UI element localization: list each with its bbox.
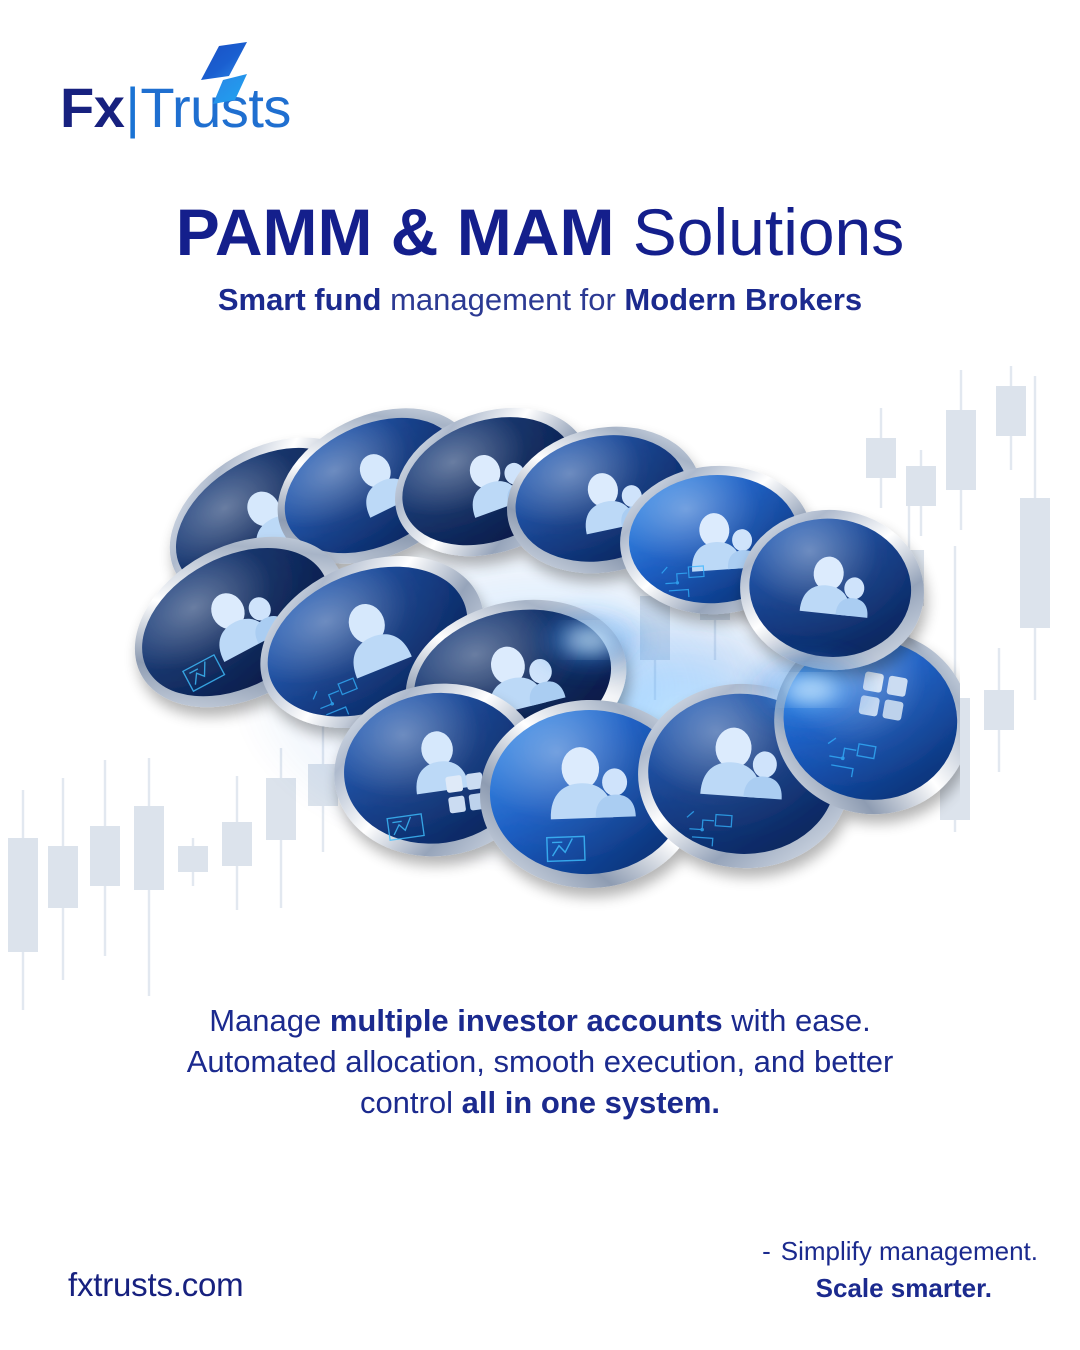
tagline-line-2: Scale smarter. — [762, 1273, 992, 1304]
brand-logo[interactable]: Fx|Trusts — [60, 44, 291, 140]
logo-divider: | — [125, 76, 139, 139]
body-line3-reg: control — [360, 1085, 462, 1120]
page-subtitle: Smart fund management for Modern Brokers — [0, 281, 1080, 318]
body-copy: Manage multiple investor accounts with e… — [0, 1000, 1080, 1124]
headline-regular: Solutions — [614, 195, 904, 269]
slanted-bars-icon — [189, 40, 253, 110]
poster-canvas: Fx|Trusts — [0, 0, 1080, 1350]
tagline-line-1-text: Simplify management. — [781, 1236, 1038, 1266]
candle-body — [996, 386, 1026, 436]
body-line1-reg-1: Manage — [209, 1003, 330, 1038]
headline-bold: PAMM & MAM — [176, 195, 615, 269]
body-line3-bold: all in one system. — [462, 1085, 720, 1120]
candle-body — [48, 846, 78, 908]
body-line1-reg-2: with ease. — [723, 1003, 871, 1038]
logo-wrap: Fx|Trusts — [60, 44, 291, 100]
body-copy-line-1: Manage multiple investor accounts with e… — [0, 1000, 1080, 1041]
website-url[interactable]: fxtrusts.com — [68, 1266, 243, 1304]
candle-body — [90, 826, 120, 886]
logo-fx-text: Fx — [60, 76, 124, 139]
tagline-block: -Simplify management. Scale smarter. — [762, 1236, 1038, 1304]
coin-cluster-illustration — [120, 390, 960, 960]
subheadline-bold-1: Smart fund — [218, 282, 382, 317]
body-copy-line-3: control all in one system. — [0, 1082, 1080, 1123]
logo-text: Fx|Trusts — [60, 80, 291, 136]
subheadline-bold-2: Modern Brokers — [624, 282, 862, 317]
body-line1-bold: multiple investor accounts — [330, 1003, 723, 1038]
headline-block: PAMM & MAM Solutions Smart fund manageme… — [0, 198, 1080, 318]
tagline-line-1: -Simplify management. — [762, 1236, 1038, 1267]
candle-body — [1020, 498, 1050, 628]
candle-body — [984, 690, 1014, 730]
page-title: PAMM & MAM Solutions — [0, 198, 1080, 267]
candle-body — [8, 838, 38, 952]
body-copy-line-2: Automated allocation, smooth execution, … — [0, 1041, 1080, 1082]
subheadline-regular: management for — [381, 282, 624, 317]
tagline-dash: - — [762, 1236, 771, 1267]
